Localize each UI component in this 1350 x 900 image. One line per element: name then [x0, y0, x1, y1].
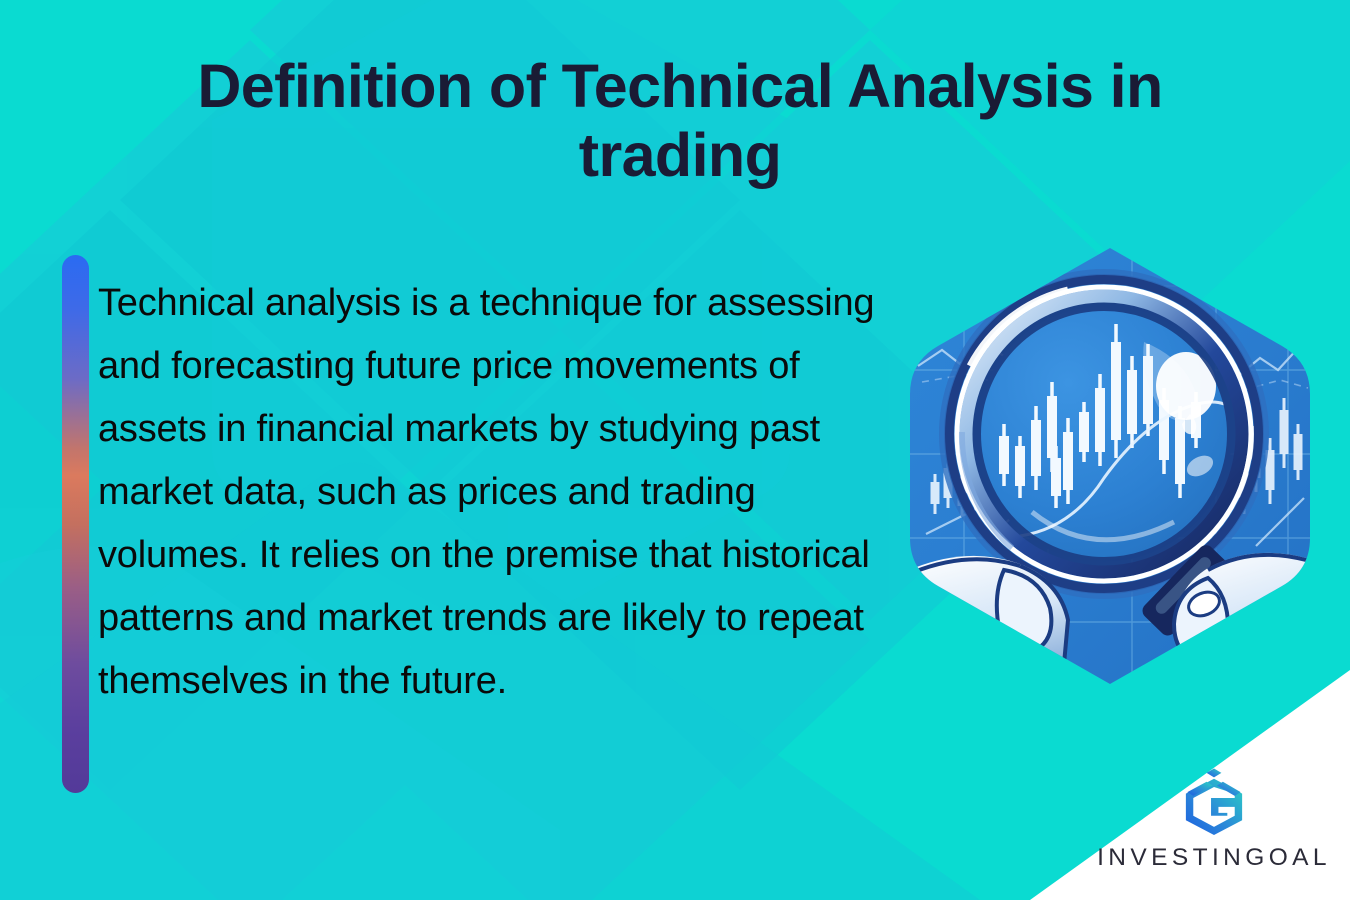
infographic-card: Definition of Technical Analysis in trad… [0, 0, 1350, 900]
investingoal-ig-hexagon-logo-icon [1177, 764, 1251, 838]
accent-gradient-bar [62, 255, 89, 793]
logo-wordmark: INVESTINGOAL [1097, 844, 1331, 872]
page-title: Definition of Technical Analysis in trad… [150, 52, 1210, 190]
brand-logo[interactable]: INVESTINGOAL [1096, 764, 1332, 872]
definition-paragraph: Technical analysis is a technique for as… [98, 272, 898, 713]
magnifying-glass-illustration [908, 246, 1312, 686]
